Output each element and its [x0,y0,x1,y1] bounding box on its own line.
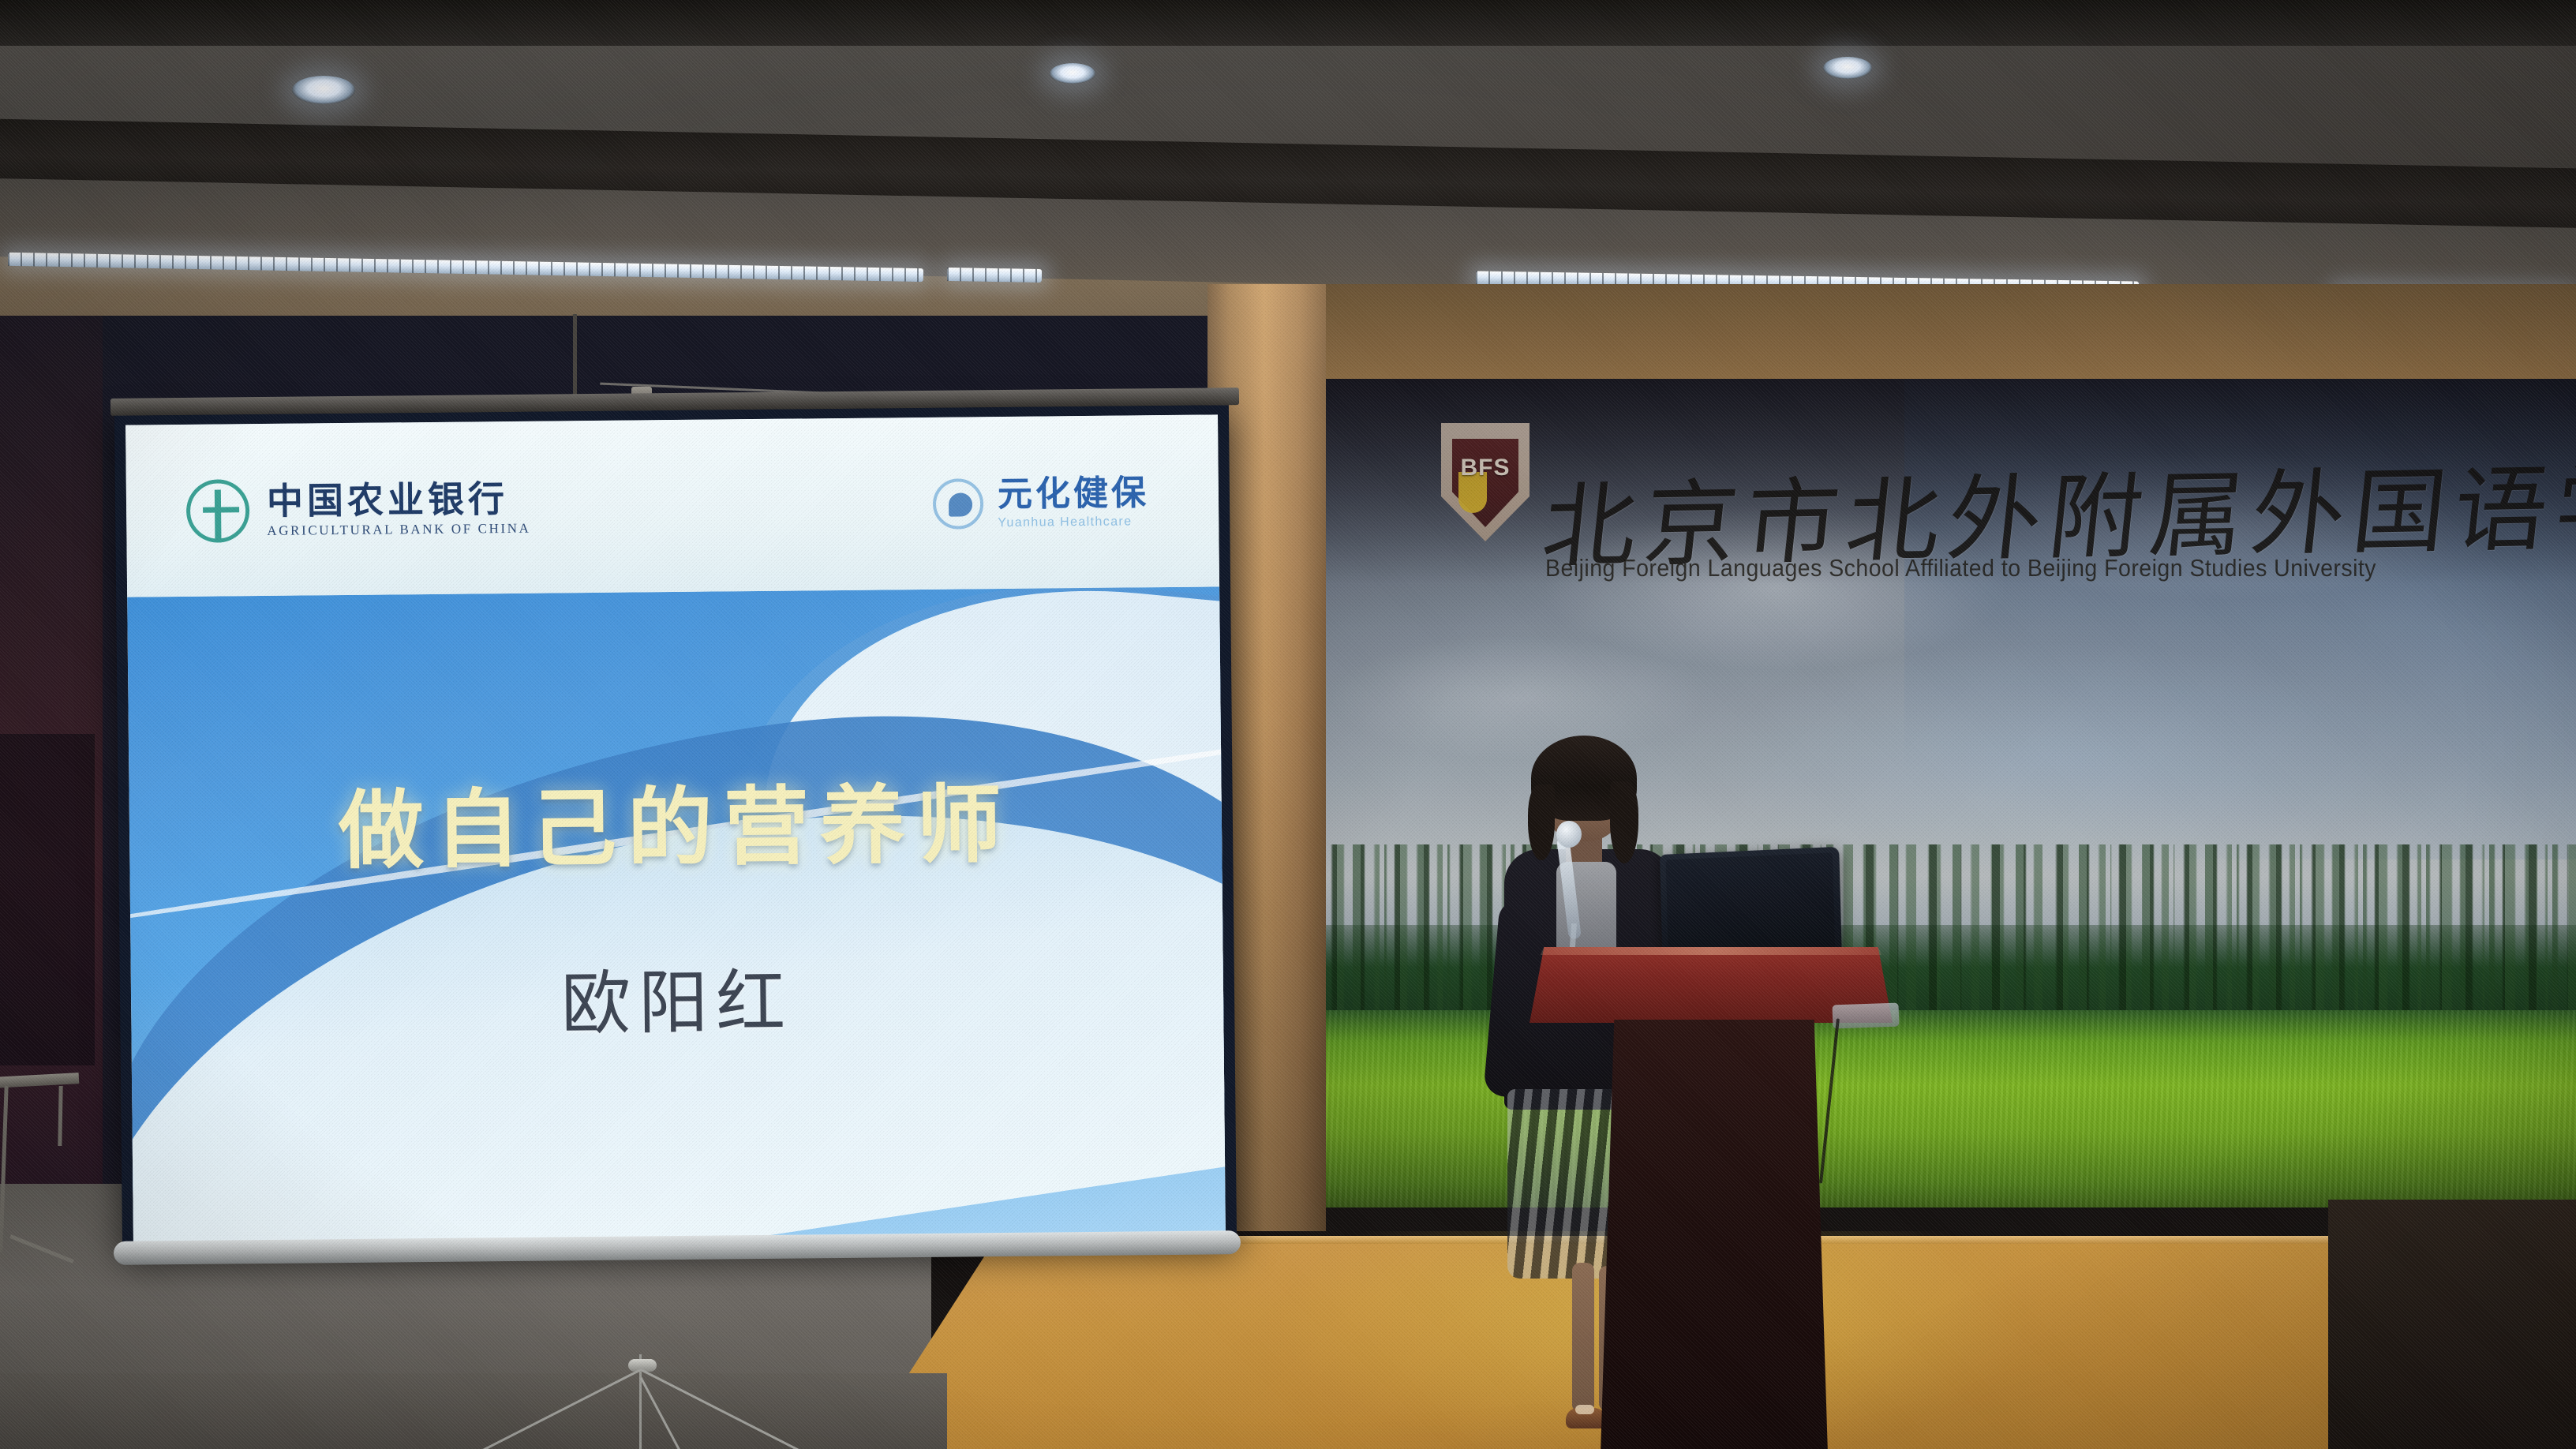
podium-top-highlight [1529,947,1893,955]
yuanhua-name-en: Yuanhua Healthcare [998,515,1149,530]
school-backdrop-banner: BFS 北京市北外附属外国语学校 Beijing Foreign Languag… [1285,379,2576,1207]
left-wall-shadow [0,734,95,1065]
lecture-hall-photo: BFS 北京市北外附属外国语学校 Beijing Foreign Languag… [0,0,2576,1449]
speaker-hair-side [1528,784,1555,860]
laptop-on-podium [1660,847,1842,962]
podium-paper-edge [1833,1003,1900,1029]
yuanhua-healthcare-logo-icon [933,478,984,530]
microphone-head-icon [1556,821,1582,848]
presentation-slide: 做自己的营养师 欧阳红 中国农业银行 AGRICULTURAL BANK OF … [125,414,1226,1242]
podium-column [1601,1020,1828,1449]
abc-bank-logo: 中国农业银行 AGRICULTURAL BANK OF CHINA [186,477,531,543]
abc-name-en: AGRICULTURAL BANK OF CHINA [267,521,530,539]
yuanhua-name-cn: 元化健保 [998,475,1149,513]
ceiling-downlight-icon [1823,57,1872,79]
ceiling-downlight-icon [292,76,355,104]
banner-vignette [1285,379,2576,1207]
right-floor-shadow [2328,1200,2576,1449]
ceiling-dark-edge [0,0,2576,46]
agricultural-bank-of-china-logo-icon [186,479,250,543]
abc-name-cn: 中国农业银行 [267,480,531,521]
screen-support-rod [573,314,577,401]
ceiling-strip-light [947,268,1042,283]
laptop-screen [1666,852,1836,955]
projection-screen: 做自己的营养师 欧阳红 中国农业银行 AGRICULTURAL BANK OF … [114,405,1237,1252]
ceiling-downlight-icon [1050,63,1095,84]
slide-presenter-name: 欧阳红 [130,942,1223,1052]
foreground-floor [0,1373,947,1449]
slide-title: 做自己的营养师 [129,754,1222,887]
speaker-hair-side [1610,781,1638,863]
ceiling [0,0,2576,331]
right-wall-header [1326,284,2576,387]
yuanhua-healthcare-logo: 元化健保 Yuanhua Healthcare [933,475,1150,531]
